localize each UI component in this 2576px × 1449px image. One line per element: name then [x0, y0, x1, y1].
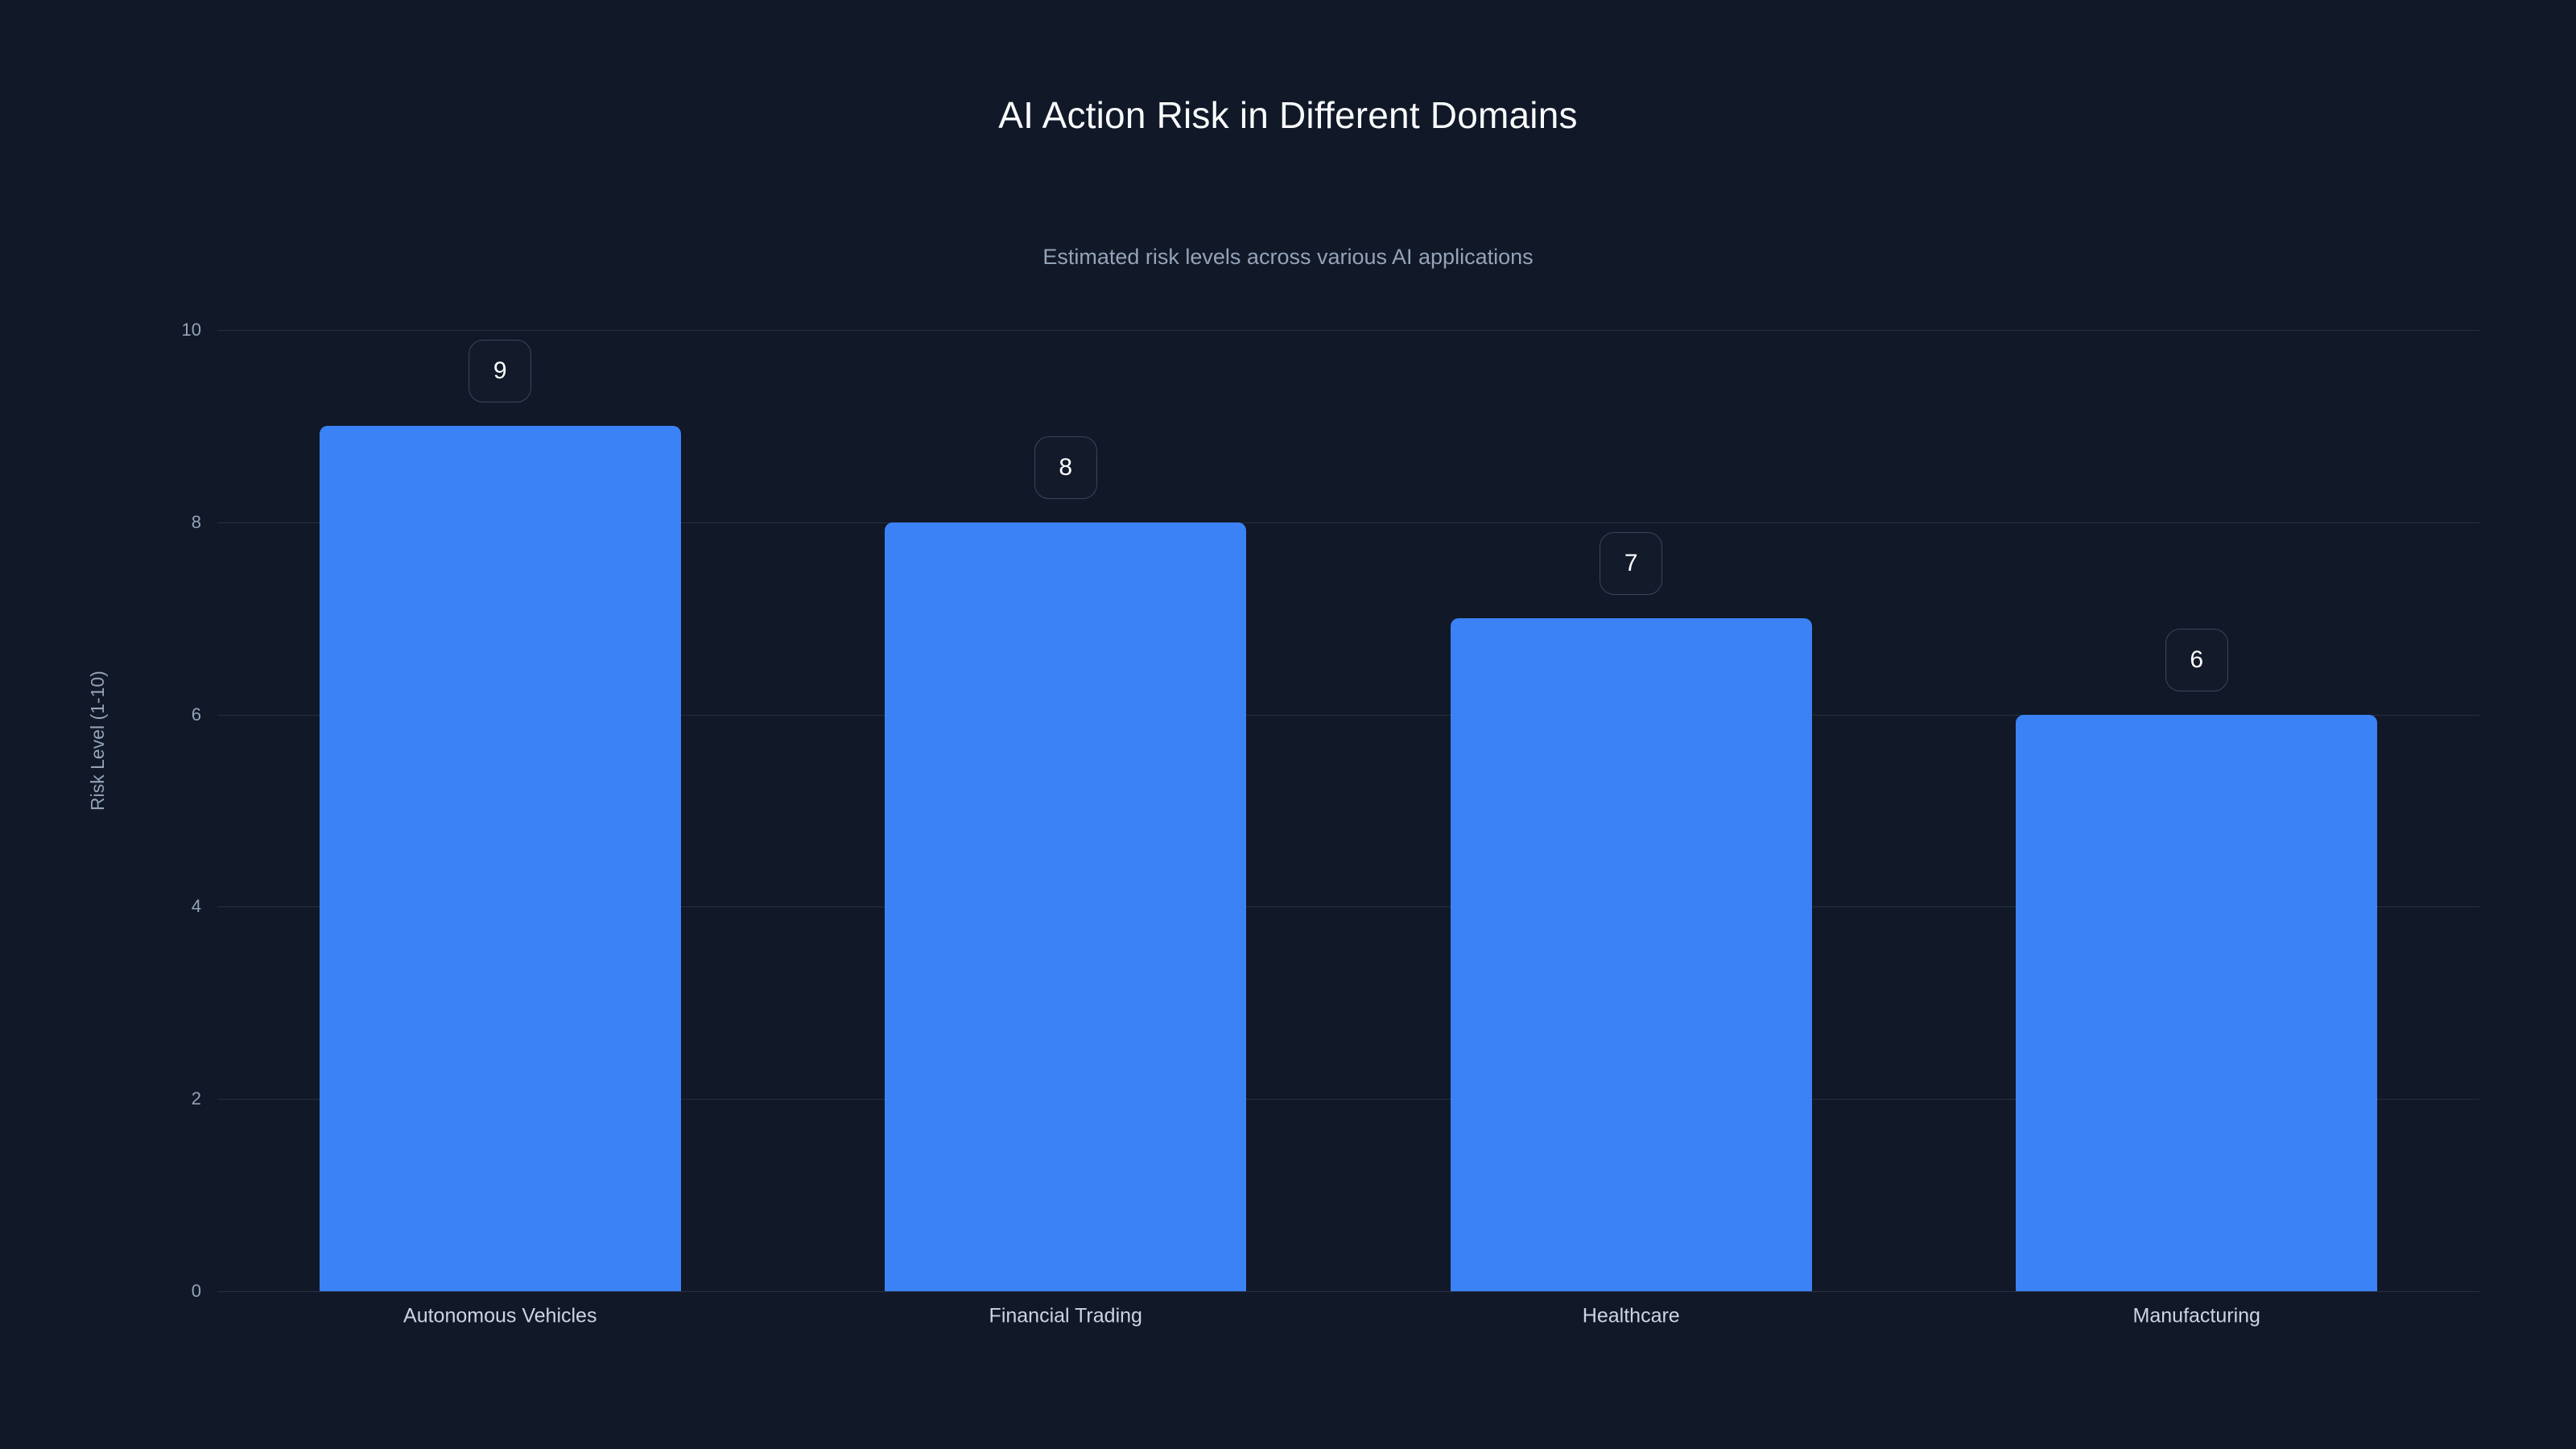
- y-axis-tick-label: 0: [105, 1282, 201, 1300]
- bar-value-badge: 9: [469, 340, 531, 402]
- gridline: [217, 1291, 2479, 1292]
- y-axis-tick-label: 2: [105, 1090, 201, 1108]
- bar-value-badge: 7: [1600, 532, 1662, 595]
- chart-canvas: AI Action Risk in Different Domains Esti…: [0, 0, 2576, 1449]
- gridline: [217, 330, 2479, 331]
- y-axis-title: Risk Level (1-10): [87, 489, 109, 811]
- chart-title: AI Action Risk in Different Domains: [0, 95, 2576, 136]
- bar-value-badge: 8: [1034, 436, 1097, 499]
- bar[interactable]: [2016, 715, 2377, 1291]
- x-axis-category-label: Healthcare: [1348, 1307, 1914, 1327]
- bar[interactable]: [320, 426, 681, 1291]
- x-axis-category-label: Manufacturing: [1914, 1307, 2480, 1327]
- bar[interactable]: [1451, 618, 1812, 1291]
- chart-subtitle: Estimated risk levels across various AI …: [0, 246, 2576, 270]
- bar[interactable]: [885, 522, 1246, 1291]
- x-axis-category-label: Financial Trading: [783, 1307, 1349, 1327]
- y-axis-tick-label: 8: [105, 514, 201, 531]
- plot-area: [217, 330, 2479, 1291]
- bar-value-badge: 6: [2165, 629, 2228, 691]
- x-axis-category-label: Autonomous Vehicles: [217, 1307, 783, 1327]
- y-axis-tick-label: 4: [105, 898, 201, 915]
- y-axis-tick-label: 6: [105, 706, 201, 724]
- y-axis-tick-label: 10: [105, 321, 201, 339]
